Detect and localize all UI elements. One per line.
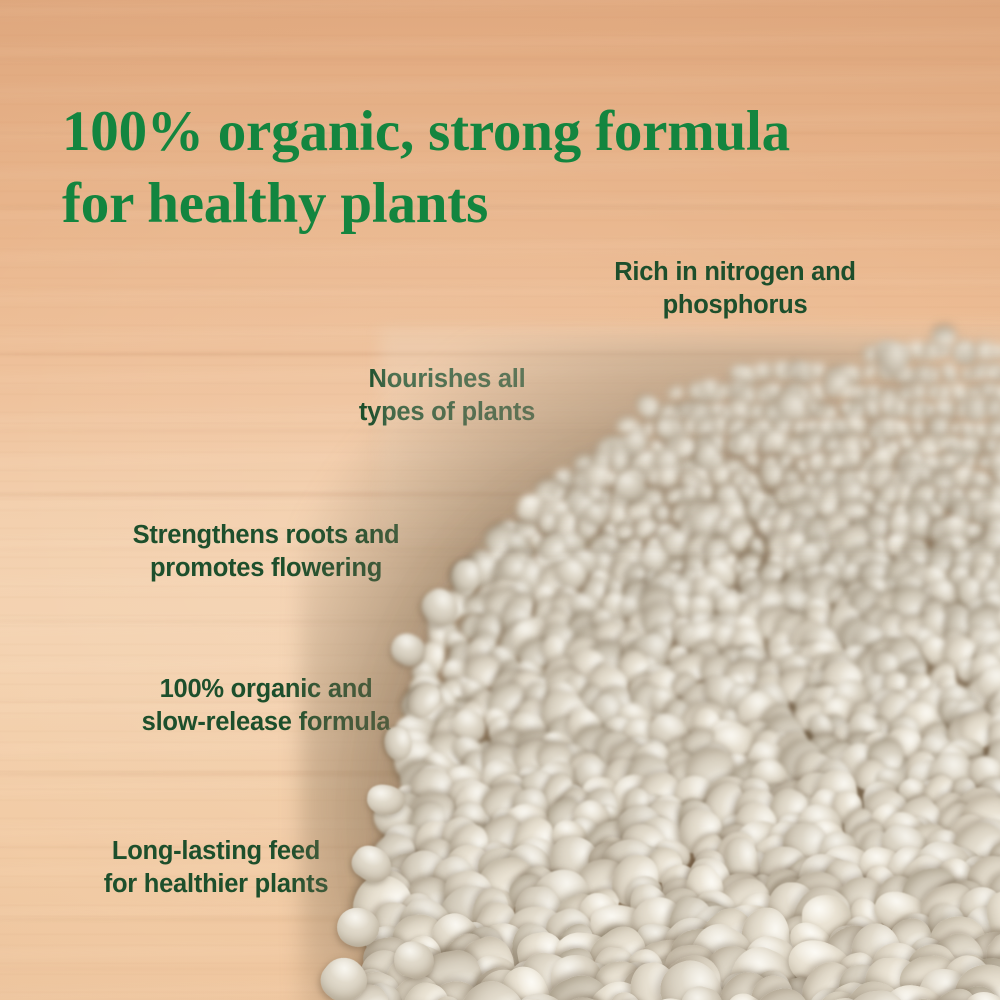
granule bbox=[452, 560, 480, 592]
page-title: 100% organic, strong formula for healthy… bbox=[62, 96, 942, 240]
product-feature-graphic: 100% organic, strong formula for healthy… bbox=[0, 0, 1000, 1000]
callout-rich-in-nitrogen: Rich in nitrogen and phosphorus bbox=[614, 256, 856, 322]
depth-of-field-veil bbox=[380, 330, 1000, 560]
